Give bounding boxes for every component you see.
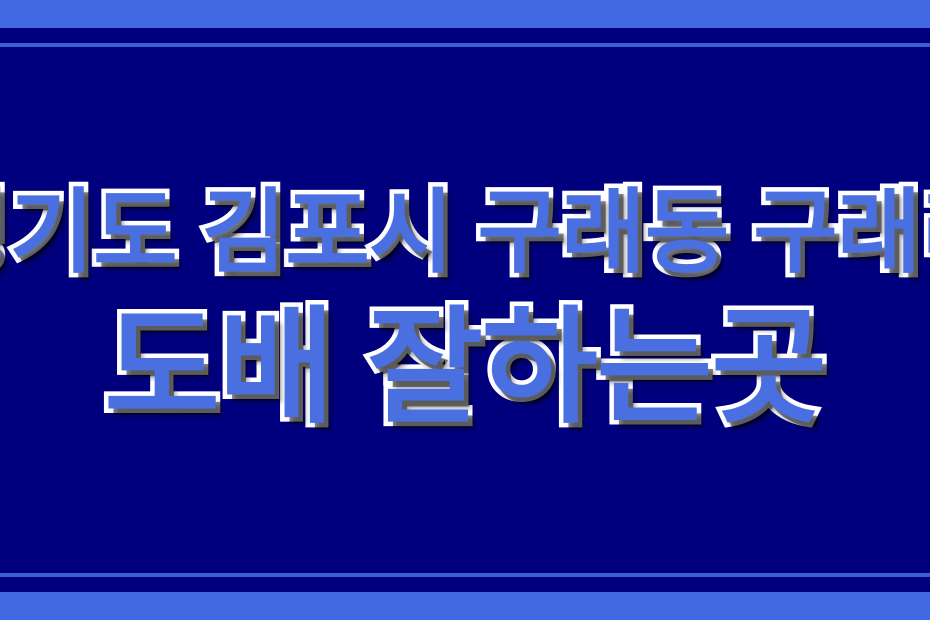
- headline-group: 경기도 김포시 구래동 구래리 도배 잘하는곳: [0, 0, 930, 620]
- thumbnail-canvas: 경기도 김포시 구래동 구래리 도배 잘하는곳: [0, 0, 930, 620]
- headline-line-1: 경기도 김포시 구래동 구래리: [0, 187, 930, 279]
- headline-line-2: 도배 잘하는곳: [104, 305, 826, 431]
